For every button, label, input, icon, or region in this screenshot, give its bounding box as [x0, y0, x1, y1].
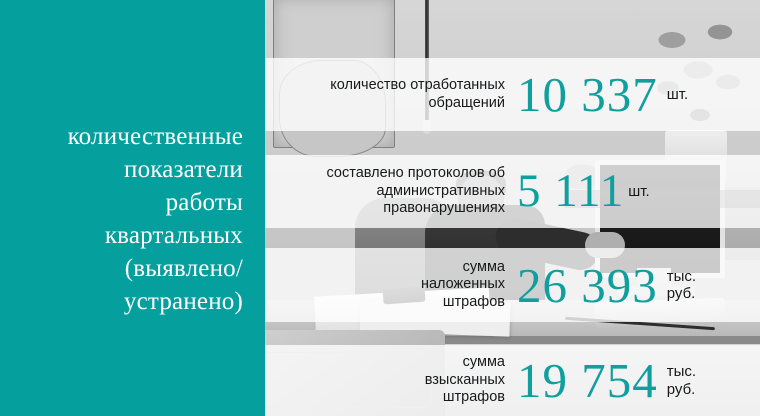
stat-card-imposed-fines: сумма наложенных штрафов 26 393 тыс. руб… — [265, 248, 760, 322]
stat-card-processed-requests: количество отработанных обращений 10 337… — [265, 58, 760, 131]
stat-value: 10 337 — [505, 70, 658, 119]
infographic-slide: количество отработанных обращений 10 337… — [0, 0, 760, 416]
stat-unit: шт. — [624, 183, 649, 201]
stat-value: 26 393 — [505, 261, 658, 310]
stat-card-collected-fines: сумма взысканных штрафов 19 754 тыс. руб… — [265, 345, 760, 416]
stat-label: сумма взысканных штрафов — [265, 354, 505, 407]
stat-value: 5 111 — [505, 167, 624, 216]
stat-unit: тыс. руб. — [658, 363, 696, 398]
stat-label: составлено протоколов об административны… — [265, 165, 505, 218]
stat-unit: шт. — [658, 86, 688, 104]
stat-value: 19 754 — [505, 356, 658, 405]
title-panel: количественные показатели работы квартал… — [0, 0, 265, 416]
stat-card-administrative-protocols: составлено протоколов об административны… — [265, 155, 760, 228]
stat-label: сумма наложенных штрафов — [265, 259, 505, 312]
stat-label: количество отработанных обращений — [265, 77, 505, 112]
stat-unit: тыс. руб. — [658, 268, 696, 303]
page-title: количественные показатели работы квартал… — [10, 120, 243, 318]
